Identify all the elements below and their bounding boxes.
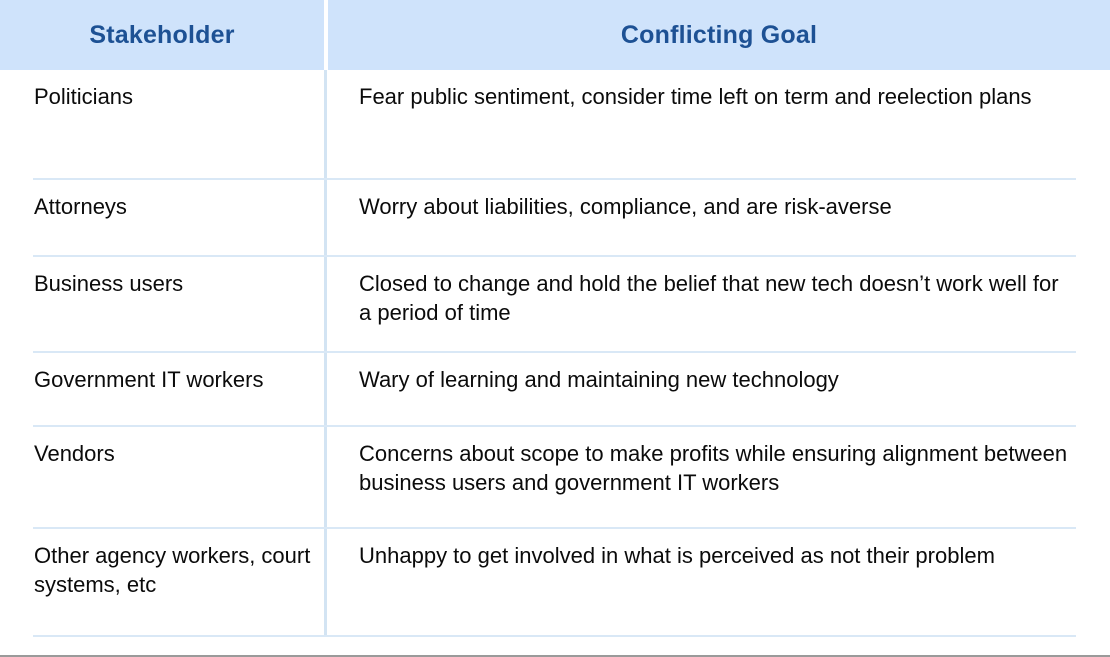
cell-conflicting-goal: Closed to change and hold the belief tha… bbox=[325, 257, 1110, 353]
table-row: Vendors Concerns about scope to make pro… bbox=[0, 427, 1110, 529]
table-body: Politicians Fear public sentiment, consi… bbox=[0, 70, 1110, 637]
cell-conflicting-goal: Concerns about scope to make profits whi… bbox=[325, 427, 1110, 529]
table-row: Attorneys Worry about liabilities, compl… bbox=[0, 180, 1110, 257]
cell-conflicting-goal: Fear public sentiment, consider time lef… bbox=[325, 70, 1110, 180]
cell-conflicting-goal: Unhappy to get involved in what is perce… bbox=[325, 529, 1110, 637]
cell-stakeholder: Vendors bbox=[0, 427, 325, 529]
table-row: Government IT workers Wary of learning a… bbox=[0, 353, 1110, 427]
table-row: Politicians Fear public sentiment, consi… bbox=[0, 70, 1110, 180]
table-row: Other agency workers, court systems, etc… bbox=[0, 529, 1110, 637]
cell-stakeholder: Business users bbox=[0, 257, 325, 353]
cell-stakeholder: Government IT workers bbox=[0, 353, 325, 427]
cell-stakeholder: Other agency workers, court systems, etc bbox=[0, 529, 325, 637]
cell-stakeholder: Attorneys bbox=[0, 180, 325, 257]
table-row: Business users Closed to change and hold… bbox=[0, 257, 1110, 353]
cell-conflicting-goal: Wary of learning and maintaining new tec… bbox=[325, 353, 1110, 427]
column-header-stakeholder: Stakeholder bbox=[0, 0, 324, 70]
table-header-row: Stakeholder Conflicting Goal bbox=[0, 0, 1110, 70]
column-header-conflicting-goal: Conflicting Goal bbox=[328, 0, 1110, 70]
cell-conflicting-goal: Worry about liabilities, compliance, and… bbox=[325, 180, 1110, 257]
stakeholder-conflicting-goal-table: Stakeholder Conflicting Goal Politicians… bbox=[0, 0, 1110, 657]
cell-stakeholder: Politicians bbox=[0, 70, 325, 180]
